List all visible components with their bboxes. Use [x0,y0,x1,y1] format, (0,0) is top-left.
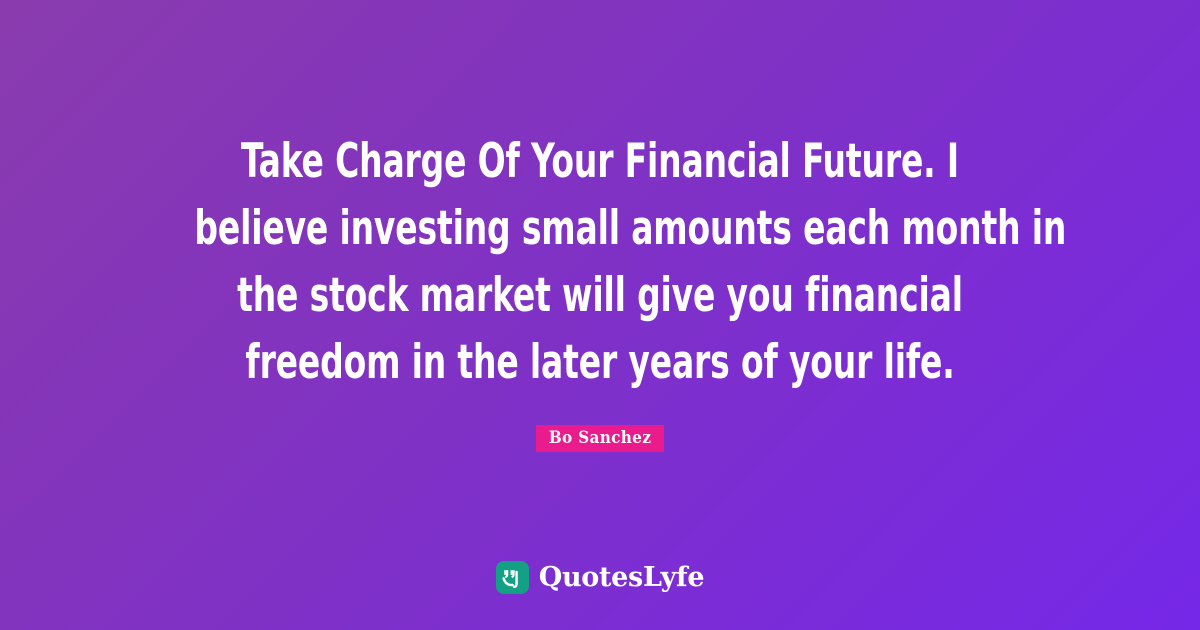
quote-line: freedom in the later years of your life. [194,329,1005,396]
author-badge-container: Bo Sanchez [0,425,1200,452]
author-name-badge[interactable]: Bo Sanchez [536,425,664,452]
quote-line: believe investing small amounts each mon… [194,195,1005,262]
quoteslyfe-quote-mark-icon [496,561,529,594]
quote-card: Take Charge Of Your Financial Future. I … [0,0,1200,630]
quote-line: the stock market will give you financial [194,262,1005,329]
brand-name: QuotesLyfe [539,561,705,594]
quote-text-block: Take Charge Of Your Financial Future. I … [0,128,1200,396]
quote-line: Take Charge Of Your Financial Future. I [194,128,1005,195]
brand-logo[interactable]: QuotesLyfe [0,561,1200,594]
